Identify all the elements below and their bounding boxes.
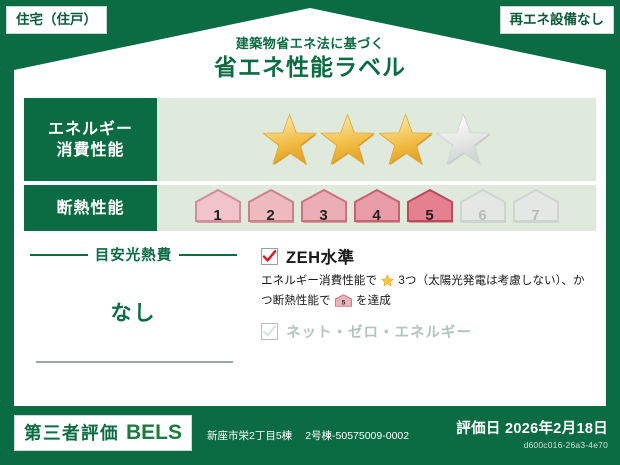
star-empty-icon	[435, 112, 492, 168]
property-address: 新座市栄2丁目5棟	[207, 430, 292, 442]
star-filled-icon	[261, 112, 318, 168]
header-subtitle: 建築物省エネ法に基づく	[0, 36, 620, 52]
zeh-title: ZEH水準	[286, 244, 355, 268]
header-title-group: 建築物省エネ法に基づく 省エネ性能ラベル	[0, 36, 620, 81]
row-energy-label-line2: 消費性能	[56, 140, 124, 161]
lower-section: 目安光熱費 なし ZEH水準 エネルギー消費性能で	[24, 238, 596, 396]
insulation-house-filled: 4	[352, 188, 402, 229]
nze-label: ネット・ゼロ・エネルギー	[286, 321, 472, 342]
insulation-house-filled: 1	[193, 188, 243, 229]
zeh-desc-part1: エネルギー消費性能で	[261, 274, 377, 287]
nze-line: ネット・ゼロ・エネルギー	[261, 321, 592, 342]
insulation-house-filled: 2	[246, 188, 296, 229]
utility-cost-heading-text: 目安光熱費	[95, 244, 173, 265]
house-icon-inline: 5	[332, 297, 355, 310]
page-title: 省エネ性能ラベル	[0, 53, 620, 81]
bels-badge: 第三者評価 BELS	[14, 415, 192, 451]
svg-text:5: 5	[342, 299, 346, 306]
row-energy-performance: エネルギー 消費性能	[24, 98, 596, 181]
property-building-id: 2号棟-50575009-0002	[305, 430, 409, 442]
row-insulation-label: 断熱性能	[24, 185, 157, 231]
zeh-checkbox[interactable]	[261, 248, 278, 265]
utility-cost-heading: 目安光熱費	[24, 244, 243, 265]
utility-cost-box: 目安光熱費 なし	[24, 238, 243, 396]
label-footer: 第三者評価 BELS 新座市栄2丁目5棟2号棟-50575009-0002 評価…	[0, 406, 620, 465]
evaluation-date-label: 評価日	[456, 421, 500, 437]
row-energy-label-line1: エネルギー	[48, 119, 133, 140]
star-icon-inline	[378, 277, 397, 290]
star-filled-icon	[319, 112, 376, 168]
insulation-house-filled: 3	[299, 188, 349, 229]
evaluation-hash: d600c016-26a3-4e70	[456, 440, 608, 450]
insulation-scale: 1234567	[193, 188, 561, 229]
nze-checkbox[interactable]	[261, 323, 278, 340]
star-filled-icon	[377, 112, 434, 168]
zeh-desc-stars: 3つ	[398, 274, 416, 287]
row-insulation-value: 1234567	[157, 185, 596, 231]
evaluation-date-value: 2026年2月18日	[505, 421, 608, 437]
zeh-description: エネルギー消費性能で 3つ（太陽光発電は考慮しない）、かつ断熱性能で 5 を達成	[261, 273, 592, 312]
insulation-house-empty: 7	[511, 188, 561, 229]
row-energy-label: エネルギー 消費性能	[24, 98, 157, 181]
energy-performance-label: 建築物省エネ法に基づく 省エネ性能ラベル 住宅（住戸） 再エネ設備なし エネルギ…	[0, 0, 620, 465]
tag-building-type: 住宅（住戸）	[6, 6, 107, 34]
bels-badge-jp: 第三者評価	[24, 420, 119, 445]
utility-cost-value: なし	[24, 297, 243, 327]
evaluation-info: 評価日 2026年2月18日 d600c016-26a3-4e70	[456, 417, 608, 450]
bels-badge-en: BELS	[126, 421, 182, 445]
insulation-house-filled: 5	[405, 188, 455, 229]
evaluation-date-line: 評価日 2026年2月18日	[456, 417, 608, 438]
row-insulation-performance: 断熱性能 1234567	[24, 185, 596, 231]
star-rating	[261, 112, 492, 168]
insulation-house-empty: 6	[458, 188, 508, 229]
row-insulation-label-text: 断熱性能	[56, 198, 124, 219]
zeh-desc-part3: を達成	[356, 294, 391, 307]
rule-left	[30, 254, 88, 256]
zeh-title-line: ZEH水準	[261, 244, 592, 268]
rule-right	[179, 254, 237, 256]
property-address-line: 新座市栄2丁目5棟2号棟-50575009-0002	[207, 428, 409, 443]
label-body-panel: エネルギー 消費性能 断熱性能 1234567 目安光熱費	[14, 88, 606, 406]
utility-cost-divider	[36, 361, 233, 363]
tag-renewable-equipment: 再エネ設備なし	[500, 6, 615, 34]
row-energy-value	[157, 98, 596, 181]
zeh-box: ZEH水準 エネルギー消費性能で 3つ（太陽光発電は考慮しない）、かつ断熱性能で…	[243, 238, 596, 396]
